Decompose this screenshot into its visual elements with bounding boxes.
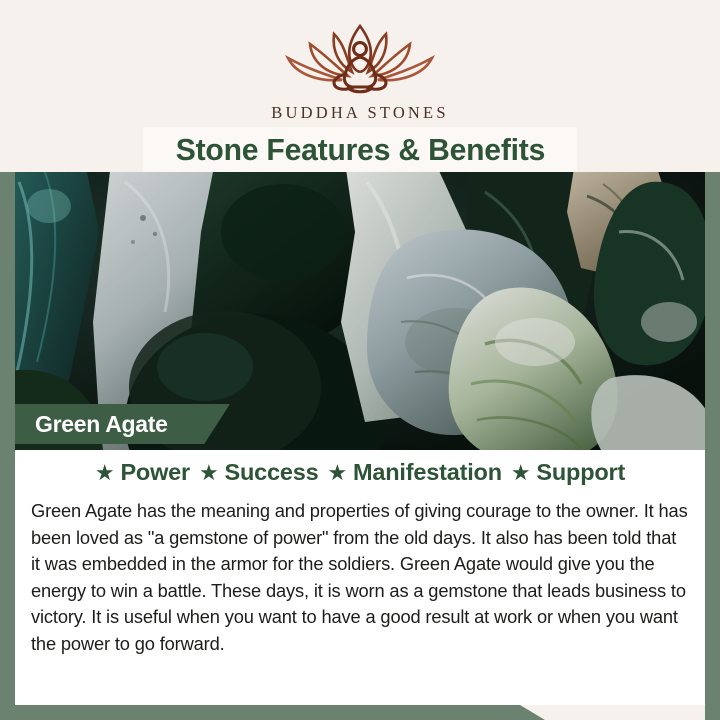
benefit-label: Power	[120, 459, 190, 486]
star-icon: ★	[199, 462, 219, 484]
frame-bottom-accent	[0, 705, 545, 720]
benefits-list: ★ Power ★ Success ★ Manifestation ★ Supp…	[15, 459, 705, 486]
stone-description: Green Agate has the meaning and properti…	[31, 498, 689, 657]
card-header: BUDDHA STONES Stone Features & Benefits	[0, 0, 720, 172]
stone-name-label: Green Agate	[35, 411, 168, 438]
section-title-banner: Stone Features & Benefits	[143, 127, 577, 173]
benefit-label: Manifestation	[353, 459, 502, 486]
benefit-item-manifestation: ★ Manifestation	[327, 459, 501, 486]
card-content: ★ Power ★ Success ★ Manifestation ★ Supp…	[15, 450, 705, 705]
benefit-item-power: ★ Power	[95, 459, 190, 486]
page-title: Stone Features & Benefits	[175, 132, 544, 168]
lotus-meditation-icon	[274, 18, 446, 101]
star-icon: ★	[511, 462, 531, 484]
product-info-card: BUDDHA STONES Stone Features & Benefits	[0, 0, 720, 720]
brand-name: BUDDHA STONES	[271, 103, 448, 123]
frame-left-accent	[0, 172, 15, 720]
benefit-label: Success	[225, 459, 319, 486]
brand-logo: BUDDHA STONES	[0, 18, 720, 123]
benefit-label: Support	[536, 459, 625, 486]
star-icon: ★	[327, 462, 347, 484]
stone-name-banner: Green Agate	[15, 404, 230, 444]
benefit-item-support: ★ Support	[511, 459, 625, 486]
star-icon: ★	[95, 462, 115, 484]
benefit-item-success: ★ Success	[199, 459, 319, 486]
